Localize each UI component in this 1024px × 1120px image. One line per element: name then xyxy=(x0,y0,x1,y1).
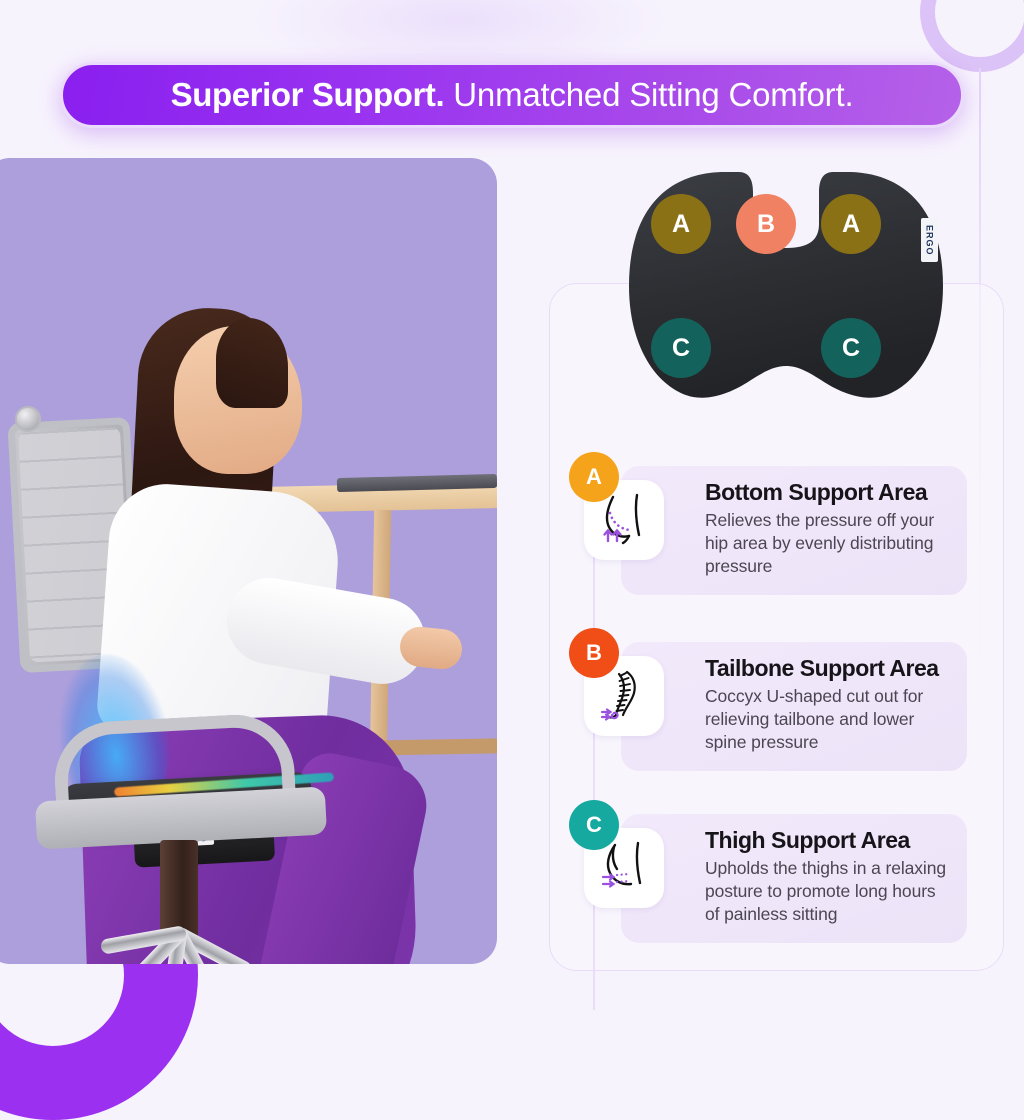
feature-card-body: Bottom Support Area Relieves the pressur… xyxy=(621,466,967,595)
header-title-light: Unmatched Sitting Comfort. xyxy=(453,76,853,114)
feature-badge-b: B xyxy=(569,628,619,678)
chair-base-icon xyxy=(64,928,294,964)
feature-description: Coccyx U-shaped cut out for relieving ta… xyxy=(705,685,949,755)
feature-badge-a: A xyxy=(569,452,619,502)
feature-title: Bottom Support Area xyxy=(705,480,949,506)
diagram-marker-c-right: C xyxy=(821,318,881,378)
feature-description: Upholds the thighs in a relaxing posture… xyxy=(705,857,949,927)
feature-title: Thigh Support Area xyxy=(705,828,949,854)
diagram-marker-a-right: A xyxy=(821,194,881,254)
chair-knob-icon xyxy=(15,406,41,432)
person-hair-front xyxy=(216,318,288,408)
lifestyle-photo: ERGO xyxy=(0,158,497,964)
diagram-marker-c-left: C xyxy=(651,318,711,378)
feature-description: Relieves the pressure off your hip area … xyxy=(705,509,949,579)
decor-ring-top-right xyxy=(920,0,1024,72)
feature-card-body: Thigh Support Area Upholds the thighs in… xyxy=(621,814,967,943)
feature-card-body: Tailbone Support Area Coccyx U-shaped cu… xyxy=(621,642,967,771)
product-brand-tag: ERGO xyxy=(921,218,938,262)
product-brand-tag-label: ERGO xyxy=(925,225,935,256)
diagram-marker-a-left: A xyxy=(651,194,711,254)
feature-badge-c: C xyxy=(569,800,619,850)
diagram-marker-b: B xyxy=(736,194,796,254)
feature-title: Tailbone Support Area xyxy=(705,656,949,682)
header-banner: Superior Support. Unmatched Sitting Comf… xyxy=(60,62,964,128)
header-title-strong: Superior Support. xyxy=(171,76,445,114)
